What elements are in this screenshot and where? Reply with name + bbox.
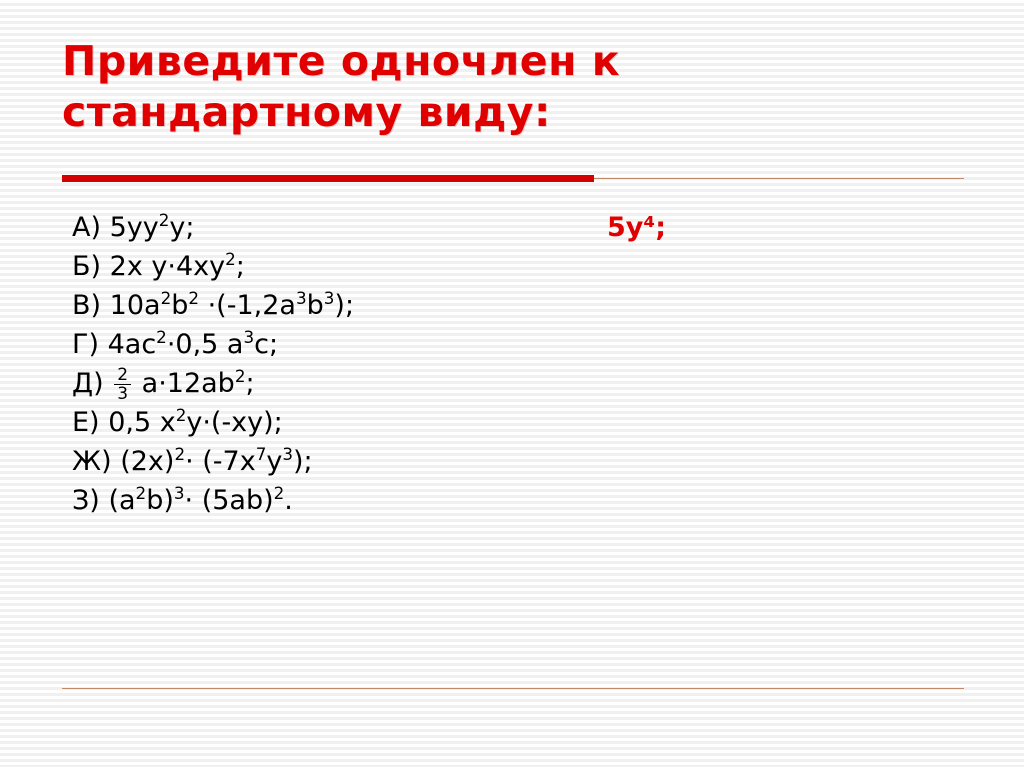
list-item: Б) 2х у·4ху2; — [72, 247, 952, 286]
list-item-expression: 5уу2у; — [110, 212, 195, 243]
list-item-expression: 0,5 x2y·(-xy); — [108, 407, 283, 438]
list-item-expression: (2x)2· (-7x7y3); — [120, 446, 312, 477]
footer-divider — [62, 688, 964, 689]
list-item-expression: 10a2b2 ·(-1,2a3b3); — [110, 290, 354, 321]
page-title: Приведите одночлен к стандартному виду: — [62, 36, 962, 138]
list-item-expression: 4ac2·0,5 a3c; — [108, 329, 279, 360]
list-item: Е) 0,5 x2y·(-xy); — [72, 403, 952, 442]
list-item: Ж) (2x)2· (-7x7y3); — [72, 442, 952, 481]
title-underline-thin — [594, 178, 964, 179]
list-item-expression: (a2b)3· (5ab)2. — [108, 485, 292, 516]
list-item: Д) 23 a·12ab2; — [72, 364, 952, 403]
list-item-expression: 23 a·12ab2; — [112, 368, 254, 399]
fraction-numerator: 2 — [114, 366, 131, 384]
list-item: З) (a2b)3· (5ab)2. — [72, 481, 952, 520]
answer-text: 5у⁴; — [607, 208, 666, 247]
list-item-label: В) — [72, 286, 101, 325]
list-item-label: З) — [72, 481, 100, 520]
page-title-line-1: Приведите одночлен к — [62, 36, 962, 87]
list-item-label: Д) — [72, 364, 104, 403]
fraction: 23 — [114, 366, 131, 403]
list-item-label: Б) — [72, 247, 101, 286]
list-item-expression: 2х у·4ху2; — [110, 251, 245, 282]
list-item: А) 5уу2у; — [72, 208, 952, 247]
slide: Приведите одночлен к стандартному виду: … — [0, 0, 1024, 767]
exercise-list: А) 5уу2у; Б) 2х у·4ху2; В) 10a2b2 ·(-1,2… — [72, 208, 952, 520]
page-title-line-2: стандартному виду: — [62, 87, 962, 138]
list-item-label: А) — [72, 208, 101, 247]
list-item: Г) 4ac2·0,5 a3c; — [72, 325, 952, 364]
list-item-label: Ж) — [72, 442, 112, 481]
fraction-denominator: 3 — [114, 384, 131, 403]
list-item: В) 10a2b2 ·(-1,2a3b3); — [72, 286, 952, 325]
title-underline-thick — [62, 175, 594, 182]
list-item-label: Е) — [72, 403, 100, 442]
list-item-label: Г) — [72, 325, 99, 364]
